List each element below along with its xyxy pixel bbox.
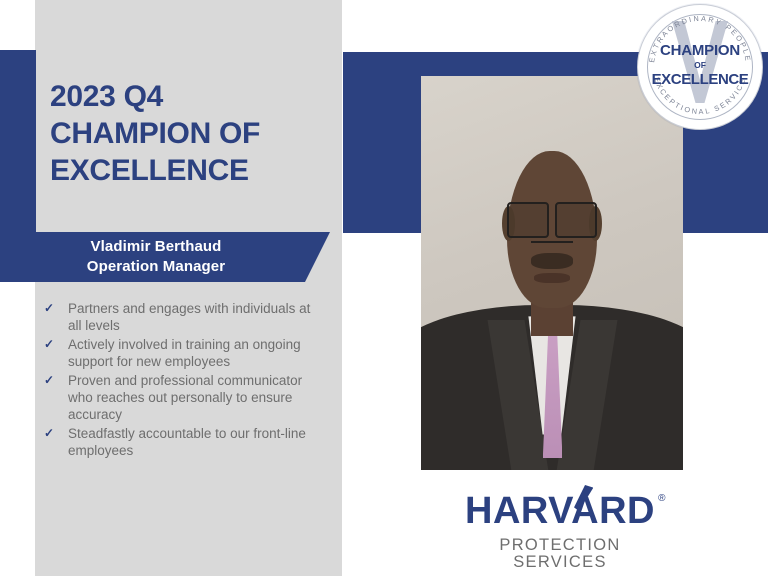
champion-of-excellence-seal-icon: EXTRAORDINARY PEOPLE EXCEPTIONAL SERVICE… [637, 4, 763, 130]
seal-main-text: CHAMPION OF EXCELLENCE [638, 43, 762, 87]
title-line-3: EXCELLENCE [50, 152, 340, 189]
seal-line-3: EXCELLENCE [638, 72, 762, 88]
list-item: ✓ Actively involved in training an ongoi… [44, 336, 324, 370]
list-item-label: Steadfastly accountable to our front-lin… [68, 425, 324, 459]
photo-mouth [534, 273, 571, 283]
logo-brand-wordmark: HARVARD ® [465, 492, 655, 530]
photo-lens-right [555, 202, 596, 238]
photo-moustache [531, 253, 573, 269]
honoree-portrait-photo [421, 76, 683, 470]
check-icon: ✓ [44, 425, 68, 442]
list-item-label: Actively involved in training an ongoing… [68, 336, 324, 370]
list-item: ✓ Proven and professional communicator w… [44, 372, 324, 423]
check-icon: ✓ [44, 300, 68, 317]
list-item-label: Proven and professional communicator who… [68, 372, 324, 423]
list-item: ✓ Partners and engages with individuals … [44, 300, 324, 334]
photo-lens-left [507, 202, 548, 238]
harvard-protection-services-logo: HARVARD ® PROTECTION SERVICES [455, 492, 665, 570]
check-icon: ✓ [44, 336, 68, 353]
honoree-name-banner: Vladimir Berthaud Operation Manager [0, 232, 330, 282]
check-icon: ✓ [44, 372, 68, 389]
title-line-2: CHAMPION OF [50, 115, 340, 152]
logo-registered-icon: ® [658, 494, 666, 504]
logo-tagline: PROTECTION SERVICES [455, 537, 665, 570]
seal-line-2: OF [638, 61, 762, 70]
champion-of-excellence-poster: 2023 Q4 CHAMPION OF EXCELLENCE Vladimir … [0, 0, 768, 576]
honoree-title: Operation Manager [87, 257, 243, 277]
photo-eyeglasses [507, 202, 596, 234]
honoree-name: Vladimir Berthaud [91, 237, 240, 257]
list-item-label: Partners and engages with individuals at… [68, 300, 324, 334]
logo-brand-text: HARVARD [465, 490, 655, 532]
page-title: 2023 Q4 CHAMPION OF EXCELLENCE [50, 78, 340, 190]
list-item: ✓ Steadfastly accountable to our front-l… [44, 425, 324, 459]
photo-glasses-bridge [531, 241, 573, 243]
seal-line-1: CHAMPION [638, 43, 762, 59]
title-line-1: 2023 Q4 [50, 78, 340, 115]
achievements-list: ✓ Partners and engages with individuals … [44, 300, 324, 461]
